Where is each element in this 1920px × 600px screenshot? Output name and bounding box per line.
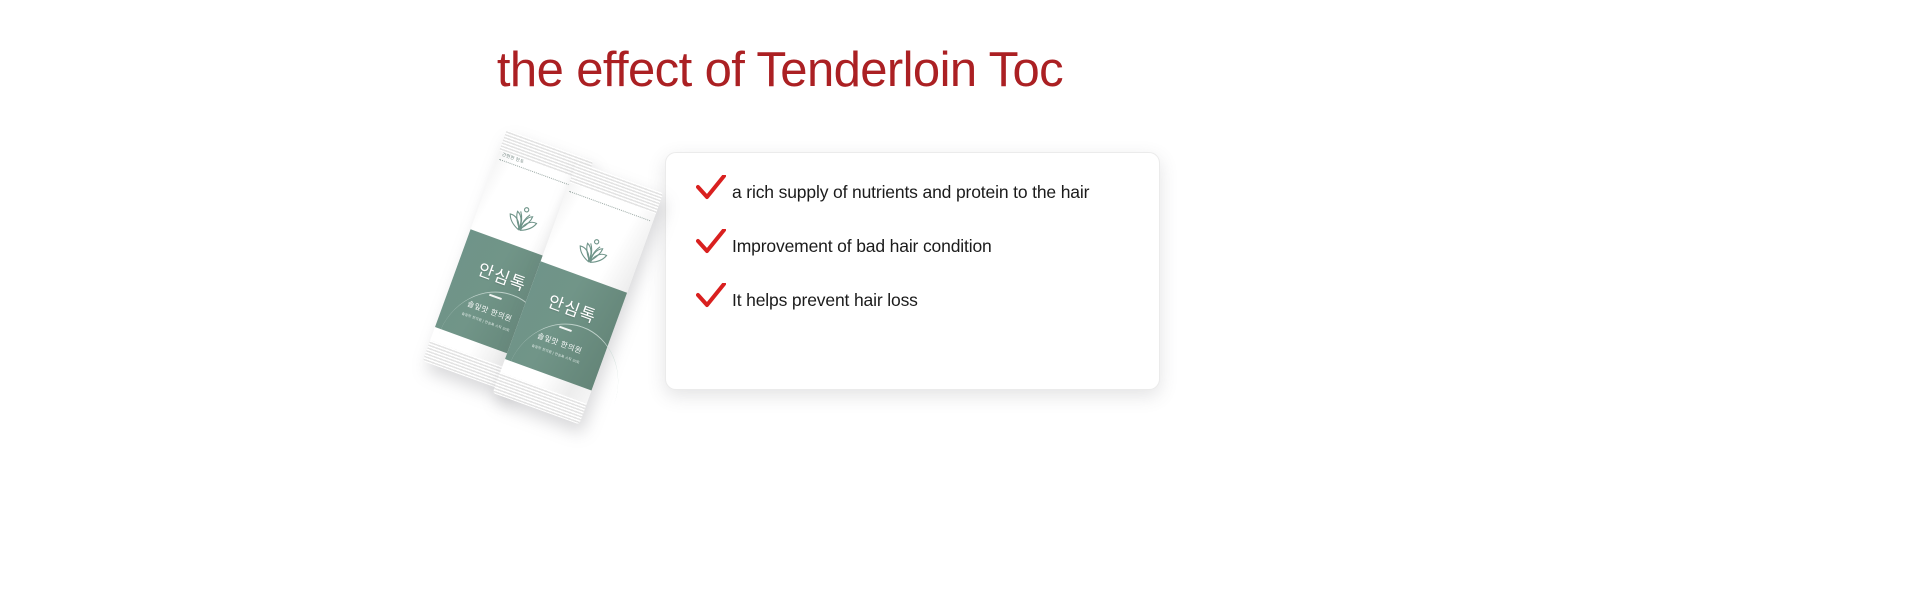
sachet-brand-name: 안심톡 (545, 288, 600, 329)
page-title: the effect of Tenderloin Toc (0, 44, 1560, 98)
leaf-logo-icon (570, 232, 614, 277)
benefit-text: Improvement of bad hair condition (732, 233, 992, 259)
benefit-item: It helps prevent hair loss (696, 287, 1129, 314)
check-icon (696, 175, 732, 206)
check-icon (696, 229, 732, 260)
promo-banner: the effect of Tenderloin Toc 간편한 한포 (0, 0, 1920, 600)
product-image: 간편한 한포 안심톡 솔잎맛 한 (440, 130, 700, 420)
sachet-brand-name: 안심톡 (475, 256, 530, 297)
benefit-item: a rich supply of nutrients and protein t… (696, 179, 1129, 206)
sachet-crimp-top (569, 162, 663, 214)
leaf-logo-icon (500, 200, 544, 245)
benefit-text: It helps prevent hair loss (732, 287, 918, 313)
benefit-item: Improvement of bad hair condition (696, 233, 1129, 260)
benefits-card: a rich supply of nutrients and protein t… (665, 152, 1160, 390)
benefit-text: a rich supply of nutrients and protein t… (732, 179, 1089, 205)
check-icon (696, 283, 732, 314)
